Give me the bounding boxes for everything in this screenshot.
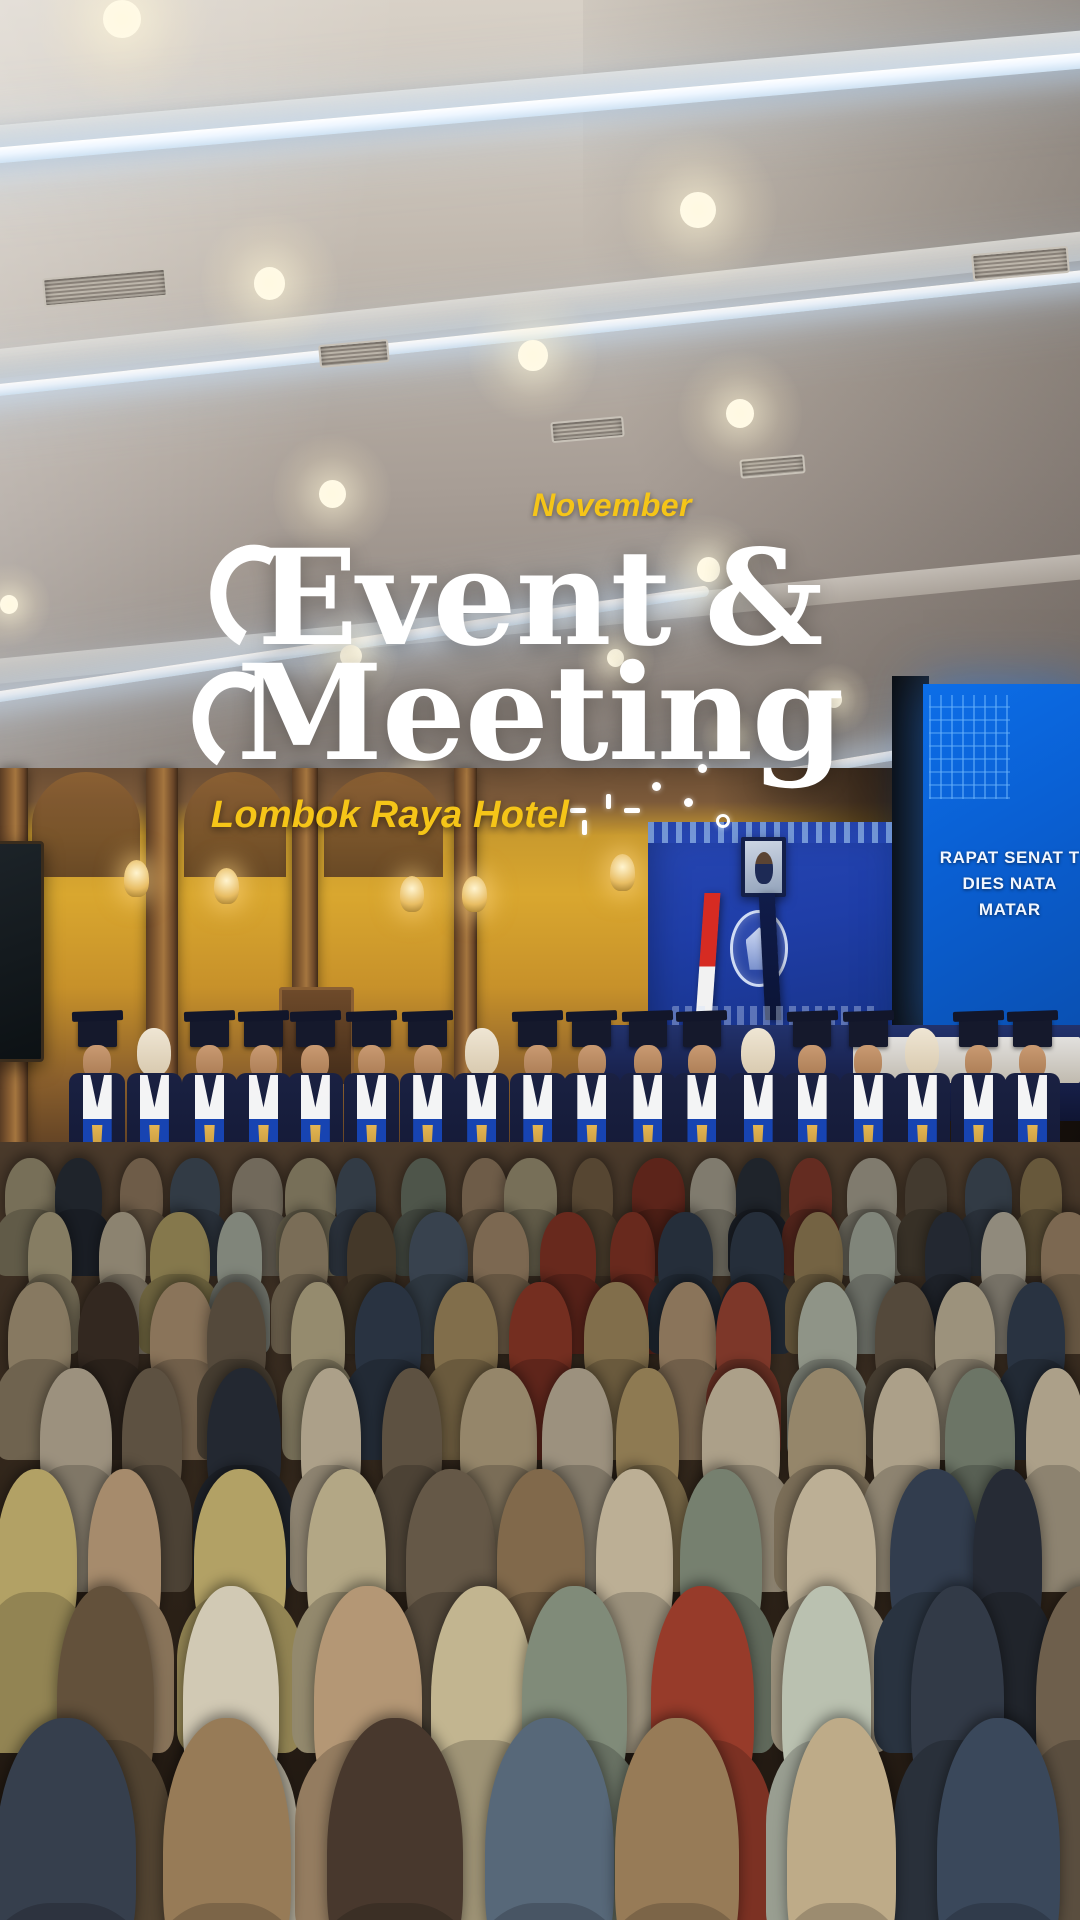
venue-subtitle: Lombok Raya Hotel — [0, 794, 1080, 837]
page-title: Event& Meeting — [0, 538, 1080, 775]
audience-member — [1026, 1368, 1080, 1516]
title-word-meeting: Meeting — [237, 653, 843, 774]
audience-member — [0, 1469, 77, 1656]
title-line-2: Meeting — [0, 653, 1080, 774]
month-kicker-label: November — [532, 487, 692, 524]
venue-subtitle-label: Lombok Raya Hotel — [211, 794, 569, 837]
month-kicker: November — [0, 487, 1080, 524]
audience-crowd — [0, 1142, 1080, 1920]
story-card: RAPAT SENAT T DIES NATA MATAR November E… — [0, 0, 1080, 1920]
